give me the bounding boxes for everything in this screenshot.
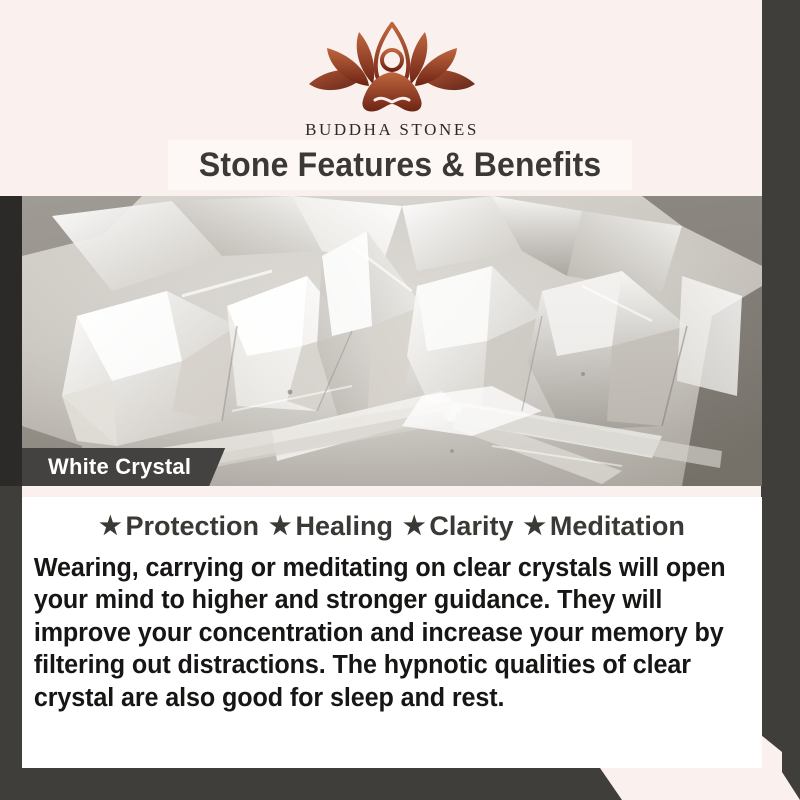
benefit-label: Healing bbox=[295, 511, 393, 541]
benefit-item-healing: ★Healing bbox=[259, 511, 393, 541]
brand-logo: BUDDHA STONES bbox=[22, 22, 762, 140]
decorative-bottom-bar bbox=[0, 768, 800, 800]
crystal-photo-illustration bbox=[22, 196, 762, 486]
benefits-list: ★Protection★Healing★Clarity★Meditation bbox=[22, 497, 762, 542]
star-icon: ★ bbox=[99, 512, 121, 540]
benefit-item-meditation: ★Meditation bbox=[513, 511, 684, 541]
star-icon: ★ bbox=[523, 512, 545, 540]
poster-root: BUDDHA STONES Stone Features & Benefits bbox=[0, 0, 800, 800]
benefit-label: Meditation bbox=[550, 511, 685, 541]
page-title: Stone Features & Benefits bbox=[199, 146, 602, 185]
description-paragraph: Wearing, carrying or meditating on clear… bbox=[22, 552, 751, 714]
brand-name: BUDDHA STONES bbox=[22, 120, 762, 140]
content-panel: ★Protection★Healing★Clarity★Meditation W… bbox=[22, 497, 762, 768]
lotus-meditation-icon bbox=[297, 22, 487, 118]
benefit-item-protection: ★Protection bbox=[99, 511, 259, 541]
decorative-right-inner-bar bbox=[761, 17, 782, 752]
star-icon: ★ bbox=[269, 512, 291, 540]
title-banner: Stone Features & Benefits bbox=[168, 140, 632, 190]
benefit-label: Clarity bbox=[429, 511, 513, 541]
star-icon: ★ bbox=[403, 512, 425, 540]
photo-caption-badge: White Crystal bbox=[22, 448, 225, 486]
photo-caption-text: White Crystal bbox=[48, 454, 191, 480]
white-crystal-cluster-photo bbox=[22, 196, 762, 486]
decorative-left-shadow-bar bbox=[0, 196, 22, 486]
benefit-label: Protection bbox=[126, 511, 260, 541]
benefit-item-clarity: ★Clarity bbox=[393, 511, 513, 541]
